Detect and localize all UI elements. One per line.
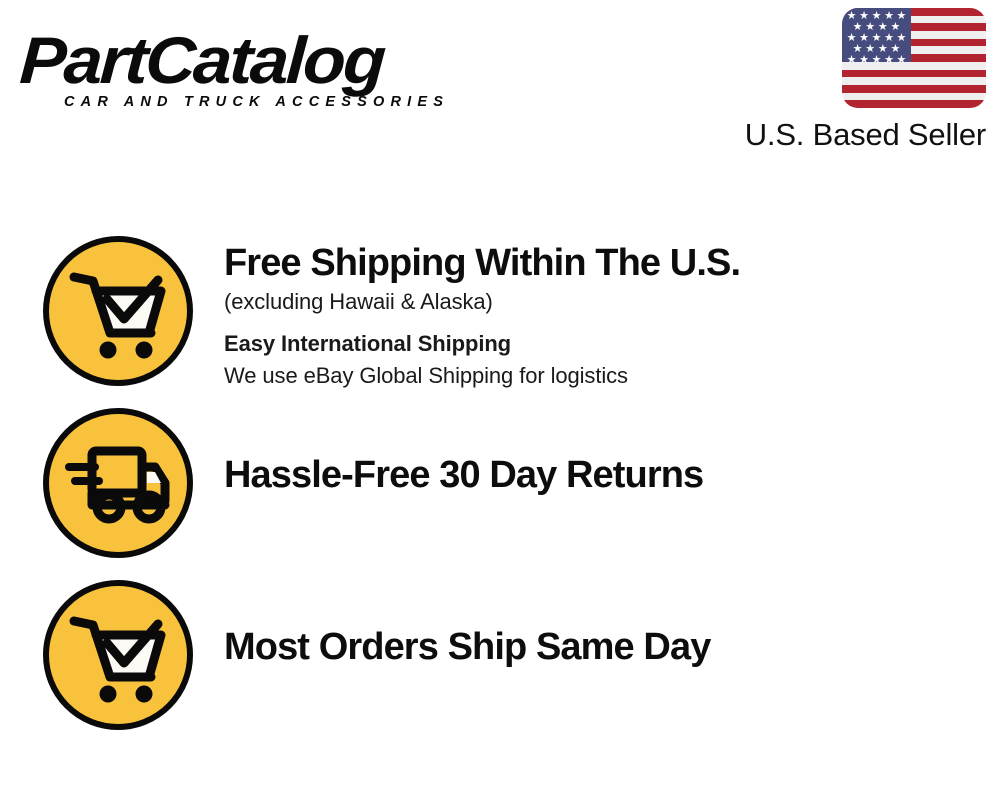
brand-wordmark: PartCatalog <box>18 24 520 96</box>
feature-title: Free Shipping Within The U.S. <box>224 240 1000 286</box>
us-based-seller-label: U.S. Based Seller <box>706 117 986 153</box>
feature-text: Hassle-Free 30 Day Returns <box>224 408 1000 498</box>
shopping-cart-check-icon <box>43 580 193 730</box>
star-icon: ★ <box>897 55 907 66</box>
feature-subtitle: We use eBay Global Shipping for logistic… <box>224 360 1000 392</box>
us-based-seller-badge: ★ ★ ★ ★ ★ ★ ★ ★ ★ ★ ★ ★ ★ ★ ★ ★ <box>706 8 986 153</box>
star-row: ★ ★ ★ ★ ★ <box>844 55 909 66</box>
brand-tagline: CAR AND TRUCK ACCESSORIES <box>64 94 449 110</box>
flag-canton: ★ ★ ★ ★ ★ ★ ★ ★ ★ ★ ★ ★ ★ ★ ★ ★ <box>842 8 911 62</box>
feature-title: Hassle-Free 30 Day Returns <box>224 452 1000 498</box>
feature-text: Most Orders Ship Same Day <box>224 580 1000 670</box>
star-icon: ★ <box>872 55 882 66</box>
feature-subtitle-bold: Easy International Shipping <box>224 328 1000 360</box>
star-icon: ★ <box>884 55 894 66</box>
star-icon: ★ <box>847 55 857 66</box>
feature-row: Free Shipping Within The U.S. (excluding… <box>0 236 1000 392</box>
shopping-cart-check-icon <box>43 236 193 386</box>
feature-row: Most Orders Ship Same Day <box>0 580 1000 730</box>
brand-logo[interactable]: PartCatalog CAR AND TRUCK ACCESSORIES <box>22 24 492 114</box>
feature-title: Most Orders Ship Same Day <box>224 624 1000 670</box>
delivery-truck-icon <box>43 408 193 558</box>
feature-subtitle: (excluding Hawaii & Alaska) <box>224 286 1000 318</box>
feature-text: Free Shipping Within The U.S. (excluding… <box>224 236 1000 392</box>
star-icon: ★ <box>859 55 869 66</box>
feature-row: Hassle-Free 30 Day Returns <box>0 408 1000 558</box>
us-flag-icon: ★ ★ ★ ★ ★ ★ ★ ★ ★ ★ ★ ★ ★ ★ ★ ★ <box>842 8 986 108</box>
